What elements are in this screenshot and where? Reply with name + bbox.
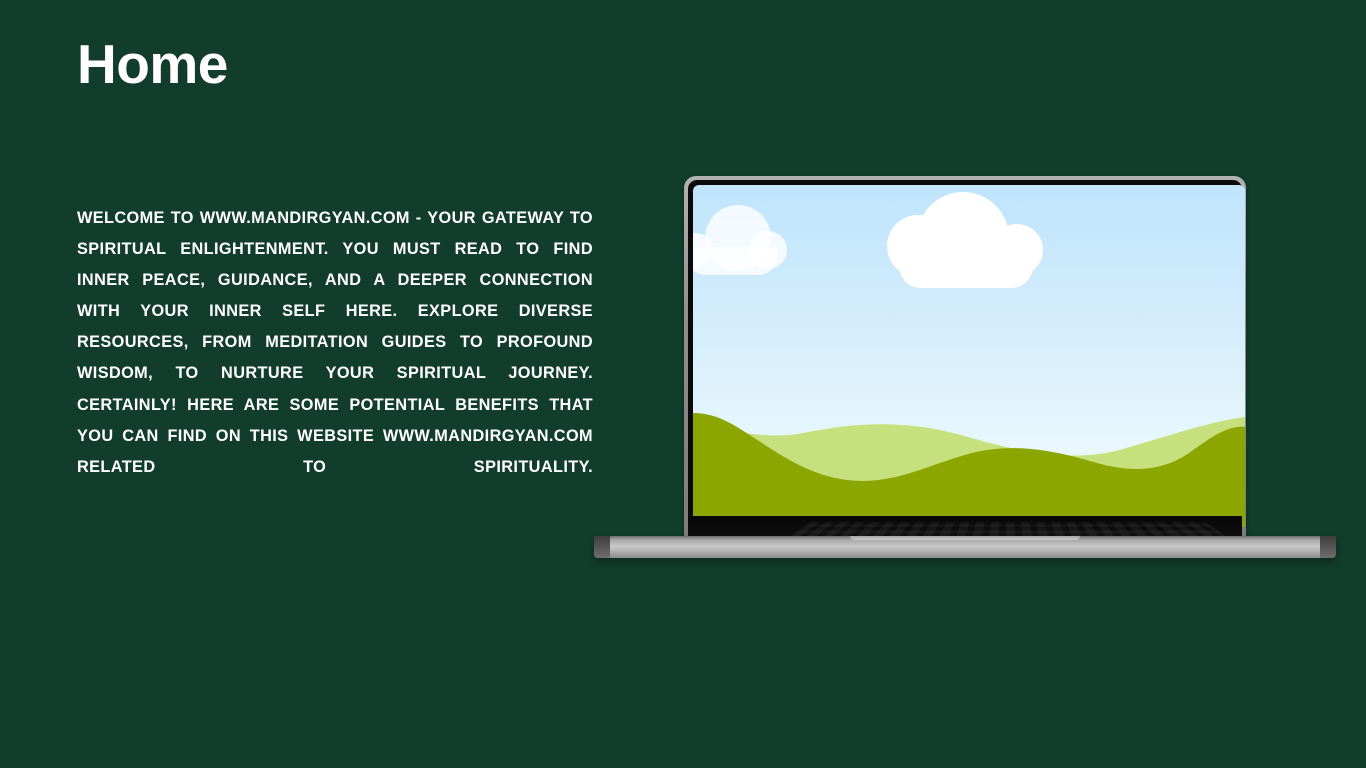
cloud-left-puff: [693, 233, 713, 267]
laptop-base: [594, 536, 1336, 558]
base-notch: [850, 536, 1080, 540]
cloud-left-icon: [693, 247, 777, 275]
laptop-lid: [684, 176, 1246, 544]
hills-graphic: [693, 397, 1245, 527]
base-cap-left: [594, 536, 610, 558]
laptop-screen: [693, 185, 1245, 527]
cloud-right-puff: [887, 215, 949, 277]
hill-front-path: [693, 413, 1245, 527]
base-cap-right: [1320, 536, 1336, 558]
body-paragraph: Welcome to www.mandirgyan.com - your gat…: [77, 203, 593, 514]
laptop-bezel-inner: [688, 180, 1242, 540]
cloud-right-icon: [899, 248, 1033, 288]
slide-root: Home Welcome to www.mandirgyan.com - you…: [0, 0, 1366, 768]
laptop-illustration: [594, 176, 1336, 568]
page-title: Home: [77, 36, 228, 94]
